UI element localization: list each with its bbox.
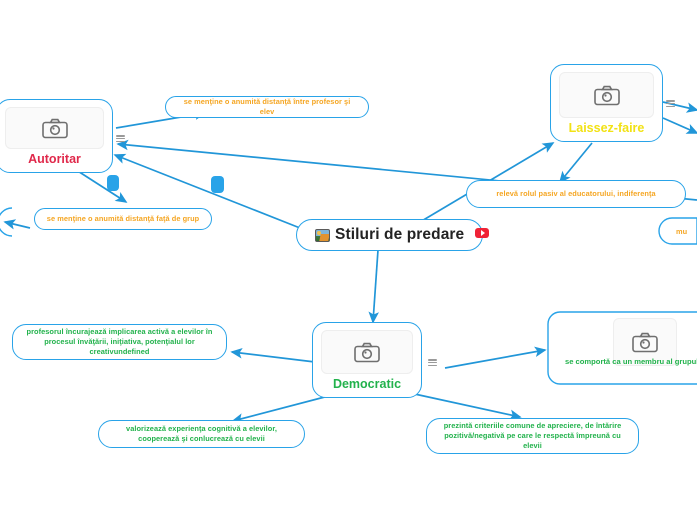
branch-node-laissez-faire[interactable]: Laissez-faire [550,64,663,142]
democratic-thumbnail[interactable] [321,330,413,374]
camera-placeholder-icon [42,118,68,139]
branch-label-membru-grup: se comportă ca un membru al grupului [565,357,697,367]
edge-democratic-incurajeaza [232,352,315,362]
leaf-node-valorizeaza-experienta[interactable]: valorizează experienţa cognitivă a elevi… [98,420,305,448]
leaf-node-distanta-grup[interactable]: se menţine o anumită distanţă faţă de gr… [34,208,212,230]
leaf-text: prezintă criteriile comune de apreciere,… [437,421,628,451]
camera-placeholder-icon [632,332,658,353]
leaf-node-incurajeaza-implicarea[interactable]: profesorul încurajează implicarea activă… [12,324,227,360]
edge-laissez-rol-pasiv [560,143,592,182]
leaf-text: valorizează experienţa cognitivă a elevi… [109,424,294,444]
video-badge-icon[interactable] [475,228,489,238]
edge-laissez-clipped-b [663,118,697,133]
edge-drag-handle-2[interactable] [107,175,119,191]
branch-label-autoritar: Autoritar [28,149,81,167]
leaf-text: se menţine o anumită distanţă faţă de gr… [47,214,199,224]
autoritar-thumbnail[interactable] [5,107,104,149]
leaf-node-criterii-apreciere[interactable]: prezintă criteriile comune de apreciere,… [426,418,639,454]
camera-placeholder-icon [354,342,380,363]
edge-democratic-criterii [410,393,520,417]
laissez-faire-thumbnail[interactable] [559,72,654,118]
edge-root-democratic [373,250,378,322]
leaf-text: relevă rolul pasiv al educatorului, indi… [496,189,655,199]
image-thumbnail-icon [315,229,330,242]
branch-node-autoritar[interactable]: Autoritar [0,99,113,173]
leaf-node-distanta-profesor-elev[interactable]: se menţine o anumită distanţă între prof… [165,96,369,118]
branch-node-democratic[interactable]: Democratic [312,322,422,398]
mindmap-canvas[interactable]: Stiluri de predare Autoritar Laissez-f [0,0,697,520]
camera-placeholder-icon [594,85,620,106]
branch-label-democratic: Democratic [333,374,401,392]
root-node-label: Stiluri de predare [335,226,464,244]
collapse-handle-icon-laissez-faire[interactable] [666,99,675,108]
root-node[interactable]: Stiluri de predare [296,219,483,251]
leaf-text: profesorul încurajează implicarea activă… [23,327,216,357]
leaf-text-clipped-right: mu [676,226,697,238]
leaf-node-rol-pasiv[interactable]: relevă rolul pasiv al educatorului, indi… [466,180,686,208]
edge-drag-handle-1[interactable] [211,176,224,193]
collapse-handle-icon-democratic[interactable] [428,358,437,367]
collapse-handle-icon-autoritar[interactable] [116,134,125,143]
edge-democratic-membru [445,350,545,368]
clipped-node-left [0,208,12,236]
branch-label-laissez-faire: Laissez-faire [569,118,645,136]
leaf-text: se menţine o anumită distanţă între prof… [176,97,358,117]
edge-clipped-left [5,222,30,228]
